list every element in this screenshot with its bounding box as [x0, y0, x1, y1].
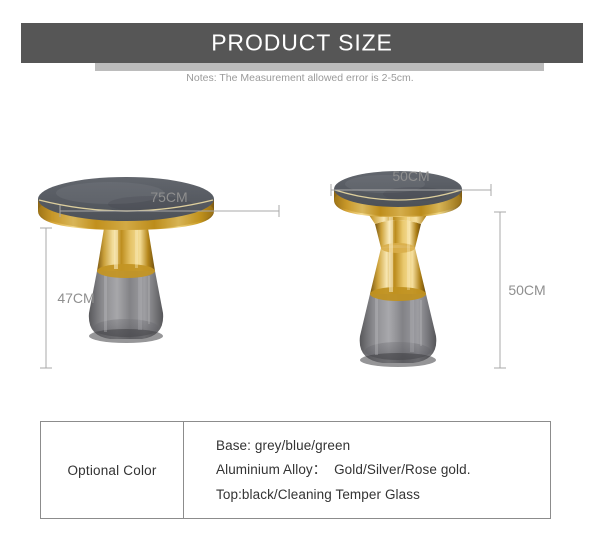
page-title: PRODUCT SIZE	[21, 32, 583, 55]
table-glass-base-small	[360, 294, 437, 367]
header: PRODUCT SIZE Notes: The Measurement allo…	[0, 0, 600, 95]
product-figure-small: 50CM 50CM	[305, 150, 545, 400]
title-bar: PRODUCT SIZE	[21, 23, 583, 63]
dimension-height-large	[40, 228, 52, 368]
product-figure-large: 75CM 47CM	[30, 150, 300, 400]
spec-line-base: Base: grey/blue/green	[216, 433, 550, 458]
dimension-height-large-label: 47CM	[57, 290, 94, 306]
dimension-width-large-label: 75CM	[150, 189, 187, 205]
title-underbar-accent	[95, 63, 544, 71]
dimension-height-small	[494, 212, 506, 368]
optional-color-label: Optional Color	[67, 463, 156, 478]
optional-color-values-cell: Base: grey/blue/green Aluminium Alloy： G…	[184, 422, 550, 518]
optional-color-label-cell: Optional Color	[41, 422, 184, 518]
optional-color-table: Optional Color Base: grey/blue/green Alu…	[40, 421, 551, 519]
spec-line-aluminium-alloy: Aluminium Alloy： Gold/Silver/Rose gold.	[216, 458, 550, 483]
table-glass-base-large	[89, 271, 163, 343]
product-illustrations: 75CM 47CM	[0, 150, 600, 400]
dimension-height-small-label: 50CM	[508, 282, 545, 298]
dimension-width-small-label: 50CM	[392, 168, 429, 184]
measurement-notes: Notes: The Measurement allowed error is …	[0, 71, 600, 86]
spec-line-top: Top:black/Cleaning Temper Glass	[216, 482, 550, 507]
